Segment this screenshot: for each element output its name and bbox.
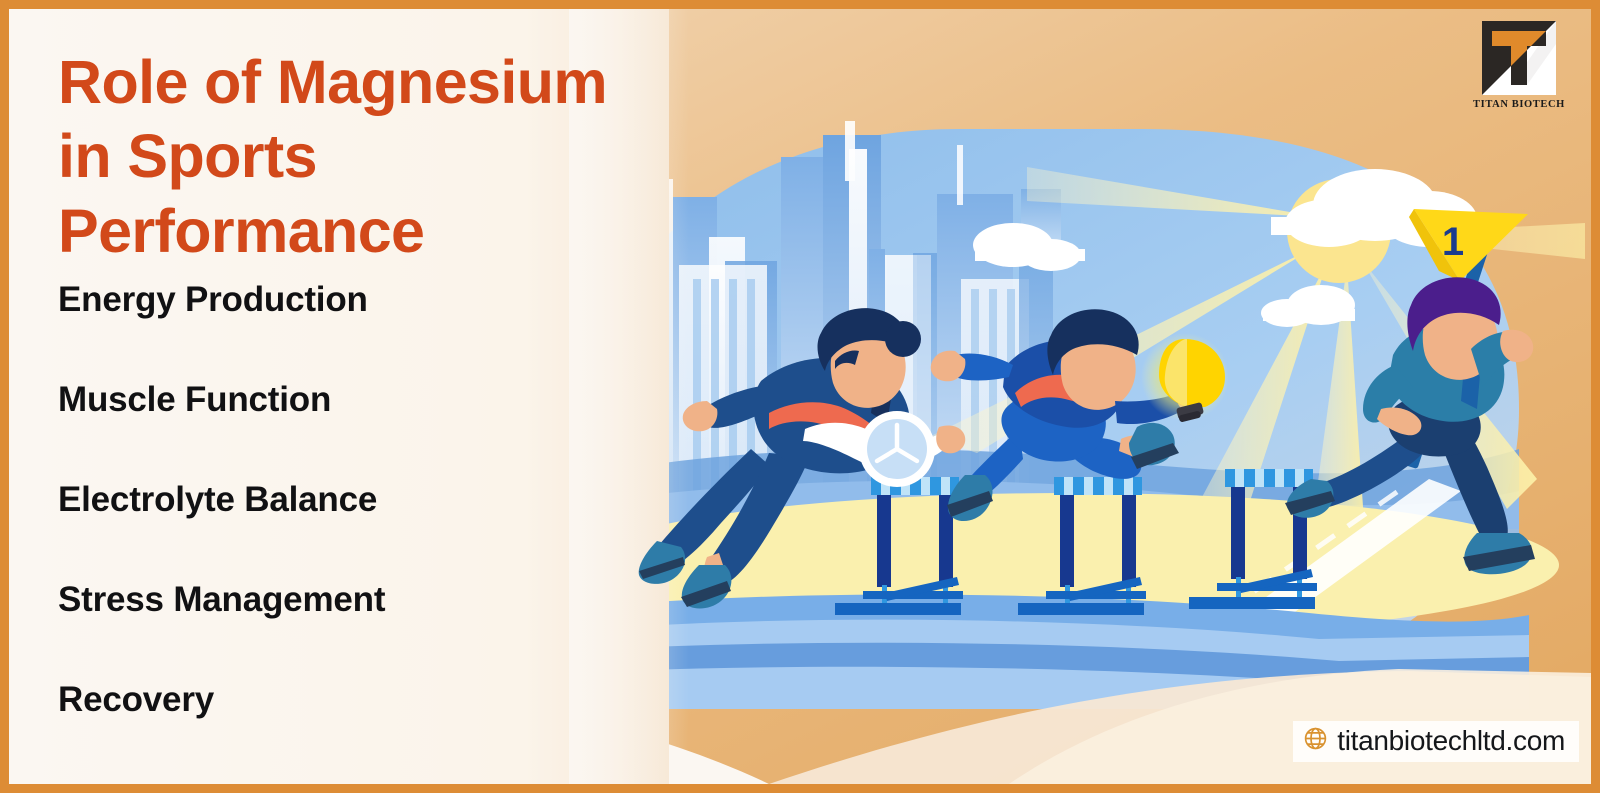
list-item: Electrolyte Balance xyxy=(58,450,658,550)
benefits-list: Energy Production Muscle Function Electr… xyxy=(58,250,658,750)
website-chip[interactable]: titanbiotechltd.com xyxy=(1293,721,1579,762)
website-url: titanbiotechltd.com xyxy=(1337,727,1565,755)
hair-bun xyxy=(885,321,921,357)
text-column: Role of Magnesium in Sports Performance … xyxy=(9,9,669,784)
list-item: Recovery xyxy=(58,650,658,750)
list-item: Energy Production xyxy=(58,250,658,350)
page-title: Role of Magnesium in Sports Performance xyxy=(58,45,658,268)
list-item: Muscle Function xyxy=(58,350,658,450)
titan-biotech-logo: TITAN BIOTECH xyxy=(1467,21,1571,110)
poster: 1 xyxy=(0,0,1600,793)
logo-mark xyxy=(1482,21,1556,95)
flag-number: 1 xyxy=(1442,220,1464,264)
logo-wordmark: TITAN BIOTECH xyxy=(1467,99,1571,110)
globe-icon xyxy=(1303,726,1328,756)
poster-canvas: 1 xyxy=(9,9,1591,784)
list-item: Stress Management xyxy=(58,550,658,650)
clock-icon xyxy=(859,411,935,487)
